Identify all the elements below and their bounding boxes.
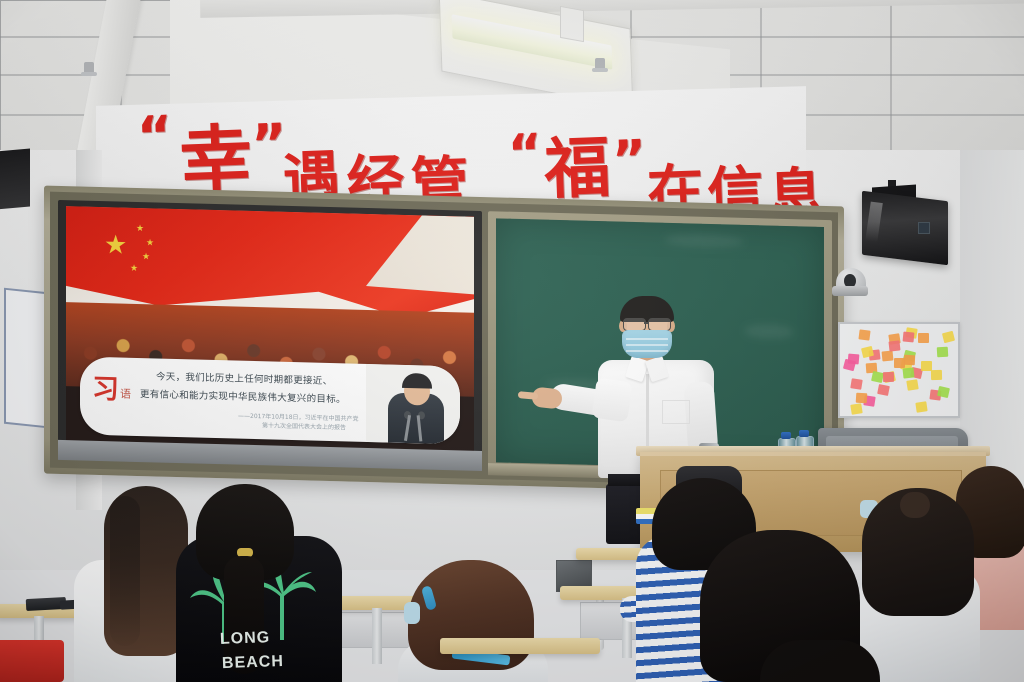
sticky-note	[856, 392, 868, 403]
sticky-note	[843, 359, 856, 371]
flag-star-small: ★	[136, 224, 144, 233]
sticky-note	[918, 333, 929, 343]
whiteboard-left	[4, 288, 48, 429]
sticky-note	[906, 379, 918, 391]
sticky-note	[937, 386, 950, 398]
sticky-note	[937, 347, 949, 358]
sticky-note	[915, 401, 927, 412]
sticky-note	[858, 329, 870, 340]
sticky-note	[851, 403, 863, 415]
sticky-note	[850, 378, 862, 390]
speaker-portrait	[366, 364, 460, 444]
student-hair-part	[900, 492, 930, 518]
student-hair-strand	[110, 496, 140, 646]
teacher-right-sleeve	[591, 378, 632, 423]
sticky-note	[883, 372, 894, 382]
flag-star-small: ★	[130, 264, 138, 273]
sticky-note	[894, 358, 905, 368]
sprinkler-icon	[595, 58, 605, 71]
desk-leg	[372, 608, 382, 664]
slogan-open-quote-1: “	[136, 109, 173, 164]
hoodie-text-line-2: BEACH	[222, 653, 284, 673]
light-end-cap	[560, 6, 584, 42]
presentation-screen[interactable]: ★ ★ ★ ★ ★ 习 语 今天，我们比历史上任何时期都更接近、 更有信心和能力…	[66, 206, 474, 453]
sticky-note	[888, 341, 900, 352]
teacher-index-finger	[518, 391, 539, 400]
sticky-note	[903, 332, 915, 343]
speaker-indicator	[918, 222, 930, 234]
sticky-note	[904, 355, 915, 365]
slogan-char-xing: 幸	[179, 122, 254, 197]
bottle-cap	[799, 430, 809, 437]
glasses-bridge-icon	[644, 322, 649, 324]
seal-char-main: 习	[92, 367, 119, 407]
student-s9	[760, 640, 880, 682]
classroom-photo: “ 幸 ” 遇 经 管 “ 福 ” 在 信 息 ★ ★ ★ ★ ★	[0, 0, 1024, 682]
student-desk	[440, 638, 600, 654]
flag-star-large: ★	[104, 231, 127, 258]
slogan-char-fu: 福	[543, 135, 611, 203]
sprinkler-icon	[84, 62, 94, 75]
teacher-shirt-pocket	[662, 400, 690, 424]
sticky-note	[861, 346, 874, 358]
red-bag-icon	[0, 640, 64, 682]
sticky-note	[877, 384, 890, 396]
sticky-note-board[interactable]	[838, 322, 960, 418]
camera-mount	[832, 286, 868, 296]
mask-pleat	[626, 350, 668, 352]
xi-quote-seal: 习 语	[92, 367, 136, 408]
sticky-note	[903, 367, 915, 378]
flag-star-small: ★	[142, 252, 150, 261]
bottle-cap	[781, 432, 791, 439]
sticky-note	[931, 370, 942, 380]
slogan-open-quote-2: “	[507, 127, 543, 180]
mask-pleat	[626, 344, 668, 346]
mask-pleat	[626, 338, 668, 340]
sticky-note	[942, 331, 955, 343]
seal-char-sub: 语	[120, 386, 131, 402]
flag-star-small: ★	[146, 238, 154, 247]
sticky-note	[921, 361, 932, 371]
speaker-left-icon	[0, 149, 30, 210]
slogan-close-quote-2: ”	[611, 134, 647, 187]
sticky-note	[882, 350, 894, 361]
sticky-note	[871, 371, 884, 383]
face-mask-icon	[404, 602, 420, 624]
hoodie-text-line-1: LONG	[220, 629, 271, 649]
